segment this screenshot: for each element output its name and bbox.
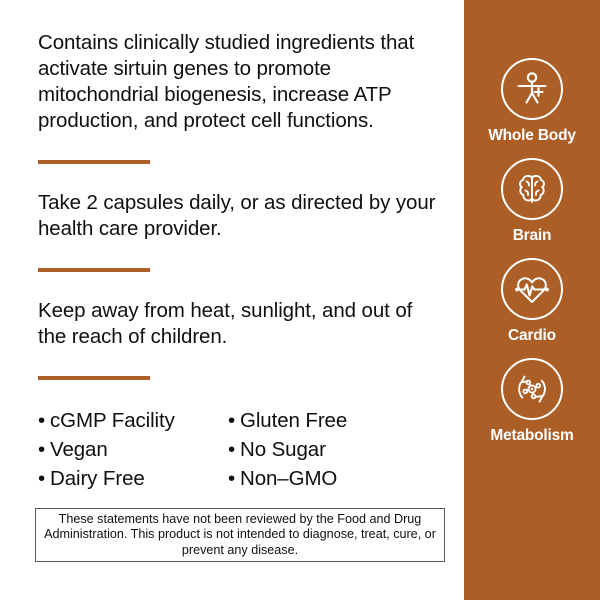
list-item: •Dairy Free	[38, 464, 228, 493]
certification-bullets: •cGMP Facility •Vegan •Dairy Free •Glute…	[38, 406, 442, 493]
supplement-label-panel: Contains clinically studied ingredients …	[0, 0, 600, 600]
list-item: •No Sugar	[228, 435, 347, 464]
ingredients-paragraph: Contains clinically studied ingredients …	[38, 30, 442, 134]
dosage-paragraph: Take 2 capsules daily, or as directed by…	[38, 190, 442, 242]
list-item-label: No Sugar	[240, 438, 326, 461]
list-item: •cGMP Facility	[38, 406, 228, 435]
spacer	[38, 134, 442, 160]
list-item: •Vegan	[38, 435, 228, 464]
benefit-icon-frame	[501, 58, 563, 120]
list-item: •Non–GMO	[228, 464, 347, 493]
benefit-label: Cardio	[508, 327, 556, 345]
info-column: Contains clinically studied ingredients …	[0, 0, 464, 600]
benefit-cardio: Cardio	[501, 258, 563, 345]
bullet-marker: •	[38, 406, 50, 435]
bullet-marker: •	[38, 464, 50, 493]
section-divider-3	[38, 376, 150, 380]
bullet-marker: •	[228, 464, 240, 493]
benefit-label: Metabolism	[490, 427, 573, 445]
fda-disclaimer-box: These statements have not been reviewed …	[35, 508, 445, 562]
list-item-label: Vegan	[50, 438, 108, 461]
spacer	[38, 242, 442, 268]
bullet-marker: •	[38, 435, 50, 464]
benefit-whole-body: Whole Body	[488, 58, 576, 145]
benefit-icon-frame	[501, 258, 563, 320]
bullet-column-left: •cGMP Facility •Vegan •Dairy Free	[38, 406, 228, 493]
spacer	[38, 350, 442, 376]
benefit-icon-frame	[501, 158, 563, 220]
list-item: •Gluten Free	[228, 406, 347, 435]
benefit-brain: Brain	[501, 158, 563, 245]
metabolism-icon	[511, 368, 553, 410]
list-item-label: cGMP Facility	[50, 409, 175, 432]
whole-body-icon	[512, 69, 552, 109]
benefit-label: Brain	[513, 227, 552, 245]
benefits-panel: Whole Body Brain	[464, 0, 600, 600]
benefit-label: Whole Body	[488, 127, 576, 145]
fda-disclaimer-text: These statements have not been reviewed …	[36, 512, 444, 559]
bullet-column-right: •Gluten Free •No Sugar •Non–GMO	[228, 406, 347, 493]
benefit-icon-frame	[501, 358, 563, 420]
spacer	[38, 272, 442, 298]
spacer	[38, 164, 442, 190]
list-item-label: Dairy Free	[50, 467, 145, 490]
heart-pulse-icon	[511, 268, 553, 310]
brain-icon	[512, 169, 552, 209]
storage-paragraph: Keep away from heat, sunlight, and out o…	[38, 298, 442, 350]
list-item-label: Gluten Free	[240, 409, 347, 432]
benefit-metabolism: Metabolism	[490, 358, 573, 445]
bullet-marker: •	[228, 435, 240, 464]
bullet-marker: •	[228, 406, 240, 435]
list-item-label: Non–GMO	[240, 467, 337, 490]
